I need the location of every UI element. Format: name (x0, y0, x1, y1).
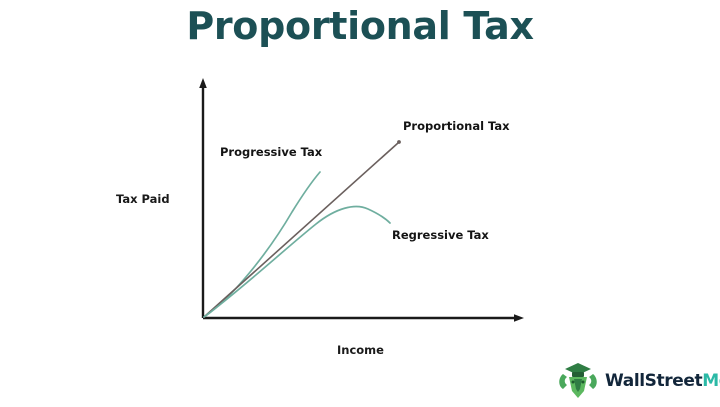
wallstreetmojo-logo[interactable]: WallStreetMojo (557, 360, 712, 402)
label-regressive-tax: Regressive Tax (392, 228, 489, 242)
x-axis-label: Income (337, 343, 384, 357)
proportional-endpoint-dot (397, 140, 401, 144)
curve-progressive-tax (204, 172, 320, 317)
x-axis (203, 314, 524, 322)
logo-text-wallstreet: WallStreet (605, 371, 702, 391)
y-axis-label: Tax Paid (116, 192, 170, 206)
label-progressive-tax: Progressive Tax (220, 145, 322, 159)
curve-regressive-tax (204, 207, 390, 317)
y-axis (199, 78, 207, 318)
infographic-canvas: Proportional Tax Tax Paid Income Progres… (0, 0, 720, 407)
bull-graduation-cap-icon (557, 361, 599, 401)
logo-wordmark: WallStreetMojo (605, 373, 720, 390)
line-proportional-tax (204, 143, 398, 317)
logo-text-mojo: Mojo (702, 371, 720, 391)
label-proportional-tax: Proportional Tax (403, 119, 510, 133)
